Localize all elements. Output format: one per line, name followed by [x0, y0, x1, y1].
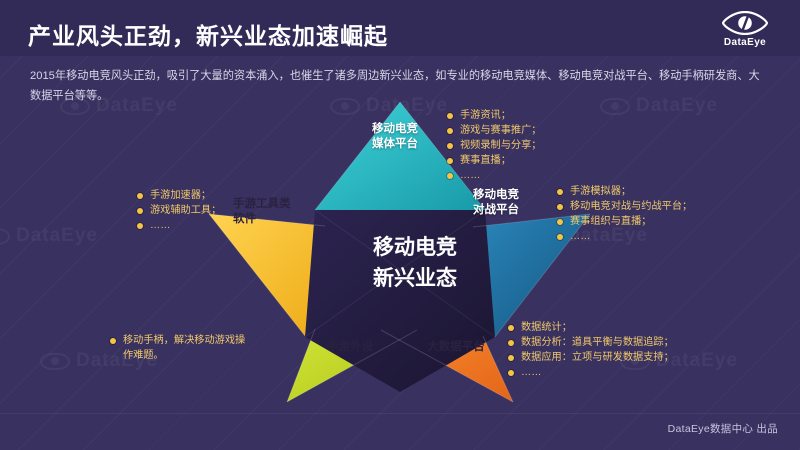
watermark-eye-icon	[0, 228, 10, 245]
watermark-eye-icon	[40, 353, 70, 370]
annotation-bigdata-list: 数据统计； 数据分析：道具平衡与数据追踪； 数据应用：立项与研发数据支持； ……	[508, 320, 674, 380]
list-item: 赛事直播；	[447, 153, 542, 168]
annotation-battle: 手游模拟器； 移动电竞对战与约战平台； 赛事组织与直播； ……	[557, 184, 692, 244]
watermark: DataEye	[0, 225, 98, 247]
annotation-tools-list: 手游加速器； 游戏辅助工具； ……	[137, 188, 221, 233]
list-item: 赛事组织与直播；	[557, 214, 692, 229]
list-item: 数据应用：立项与研发数据支持；	[508, 350, 674, 365]
footer-divider	[0, 413, 800, 414]
list-item: ……	[447, 168, 542, 183]
page-title: 产业风头正劲，新兴业态加速崛起	[28, 17, 388, 51]
annotation-gamepad: 移动手柄，解决移动游戏操作难题。	[110, 333, 250, 363]
logo-text: DataEye	[724, 37, 766, 48]
annotation-tools: 手游加速器； 游戏辅助工具； ……	[137, 188, 221, 233]
list-item: 游戏与赛事推广；	[447, 123, 542, 138]
list-item: ……	[508, 365, 674, 380]
annotation-gamepad-list: 移动手柄，解决移动游戏操作难题。	[110, 333, 250, 363]
footer-credit: DataEye数据中心 出品	[668, 421, 778, 436]
dataeye-logo: DataEye	[708, 6, 782, 52]
list-item: 移动电竞对战与约战平台；	[557, 199, 692, 214]
watermark-label: DataEye	[16, 225, 98, 247]
list-item: 视频录制与分享；	[447, 138, 542, 153]
list-item: ……	[557, 229, 692, 244]
list-item: 游戏辅助工具；	[137, 203, 221, 218]
list-item: 手游模拟器；	[557, 184, 692, 199]
list-item: ……	[137, 218, 221, 233]
annotation-battle-list: 手游模拟器； 移动电竞对战与约战平台； 赛事组织与直播； ……	[557, 184, 692, 244]
list-item: 移动手柄，解决移动游戏操作难题。	[110, 333, 250, 363]
annotation-bigdata: 数据统计； 数据分析：道具平衡与数据追踪； 数据应用：立项与研发数据支持； ……	[508, 320, 674, 380]
list-item: 数据分析：道具平衡与数据追踪；	[508, 335, 674, 350]
list-item: 手游加速器；	[137, 188, 221, 203]
list-item: 数据统计；	[508, 320, 674, 335]
eye-icon	[722, 11, 768, 35]
annotation-media-list: 手游资讯； 游戏与赛事推广； 视频录制与分享； 赛事直播； ……	[447, 108, 542, 183]
list-item: 手游资讯；	[447, 108, 542, 123]
annotation-media: 手游资讯； 游戏与赛事推广； 视频录制与分享； 赛事直播； ……	[447, 108, 542, 183]
slide-canvas: DataEye DataEye DataEye DataEye DataEye …	[0, 0, 800, 450]
